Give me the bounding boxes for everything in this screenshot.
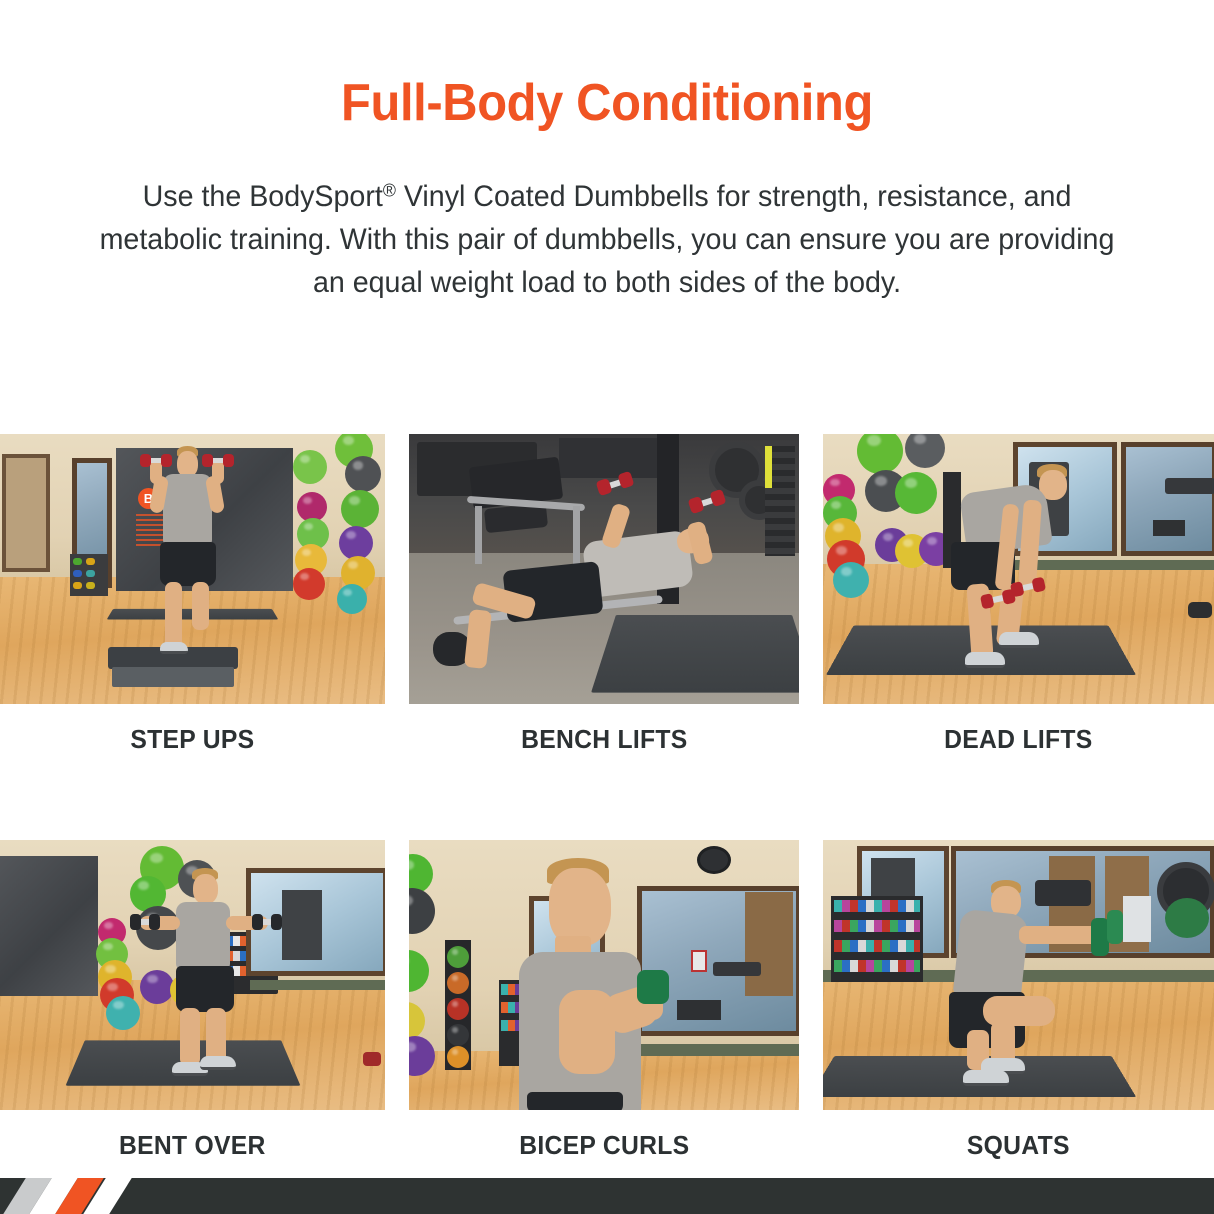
head [549,868,611,946]
exercise-card-bicep-curls[interactable]: BICEP CURLS [409,840,800,1161]
dumbbell-right [687,489,726,514]
page-title: Full-Body Conditioning [36,76,1177,131]
dumbbell-left [595,471,634,496]
dumbbell-green [637,970,669,1004]
exercise-caption: BENT OVER [10,1130,375,1161]
exercise-photo-bicep-curls [409,840,800,1110]
dumbbell-head [1032,577,1047,593]
dumbbell-head [161,454,172,467]
dumbbell-handle [213,458,223,463]
exercise-card-bent-over[interactable]: BENT OVER [0,840,385,1161]
dumbbell-handle [151,458,161,463]
shoe-back [963,1070,1009,1086]
exercise-photo-bench-lifts [409,434,800,704]
dumbbell-green-right [1107,910,1123,944]
exercise-card-dead-lifts[interactable]: DEAD LIFTS [823,434,1214,755]
dumbbell-left [130,914,160,930]
poster-page: Full-Body Conditioning Use the BodySport… [0,0,1214,1214]
shin [464,609,492,669]
shorts [176,966,234,1012]
exercise-card-bench-lifts[interactable]: BENCH LIFTS [409,434,800,755]
dumbbell-head [637,970,669,1004]
dumbbell-head [130,914,141,930]
dumbbell-head [271,914,282,930]
exercise-caption: BENCH LIFTS [418,724,789,755]
head [193,874,218,904]
dumbbell-head [1107,910,1123,944]
dumbbell-head [595,478,612,496]
shoe-back [999,632,1039,648]
exerciser [823,840,1214,1110]
exercise-caption: DEAD LIFTS [833,724,1204,755]
registered-trademark-mark: ® [383,179,396,200]
exercise-caption: STEP UPS [10,724,375,755]
leg-left [180,1008,200,1066]
shoe-right [200,1056,236,1070]
exercise-grid: B [0,434,1214,1161]
intro-line-1a: Use the BodySport [143,180,383,213]
shoe-front [965,652,1005,668]
exerciser [409,434,800,704]
leg-back [192,582,209,630]
exerciser [0,434,385,704]
dumbbell-left [140,454,172,467]
leg-front [165,582,182,650]
dumbbell-head [617,471,634,489]
exercise-row-2: BENT OVER [0,840,1214,1161]
exercise-caption: SQUATS [833,1130,1204,1161]
intro-paragraph: Use the BodySport® Vinyl Coated Dumbbell… [93,175,1121,305]
dumbbell-right [1010,577,1046,598]
exercise-photo-step-ups: B [0,434,385,704]
shoe-front [160,642,188,654]
torso-shirt [176,902,230,970]
exercise-photo-bent-over [0,840,385,1110]
exercise-caption: BICEP CURLS [418,1130,789,1161]
exercise-card-squats[interactable]: SQUATS [823,840,1214,1161]
dumbbell-right [252,914,282,930]
footer-accent-bar [0,1178,1214,1214]
dumbbell-head [709,489,726,507]
exerciser [409,840,800,1110]
exerciser [0,840,385,1110]
dumbbell-right [202,454,234,467]
exercise-row-1: B [0,434,1214,755]
torso-shirt [953,909,1030,1002]
exercise-card-step-ups[interactable]: B [0,434,385,755]
exercise-photo-dead-lifts [823,434,1214,704]
shorts [160,542,216,586]
exerciser [823,434,1214,704]
shorts [527,1092,623,1110]
header: Full-Body Conditioning Use the BodySport… [0,0,1214,305]
dumbbell-head [223,454,234,467]
dumbbell-head [687,496,704,514]
dumbbell-head [202,454,213,467]
thigh [983,996,1055,1026]
intro-line-4: both sides of the body. [615,266,901,299]
torso-shirt [163,474,212,546]
dumbbell-head [140,454,151,467]
exercise-photo-squats [823,840,1214,1110]
dumbbell-head [252,914,263,930]
intro-line-1b: Vinyl Coated Dumbbells for strength, [396,180,869,213]
dumbbell-head [149,914,160,930]
